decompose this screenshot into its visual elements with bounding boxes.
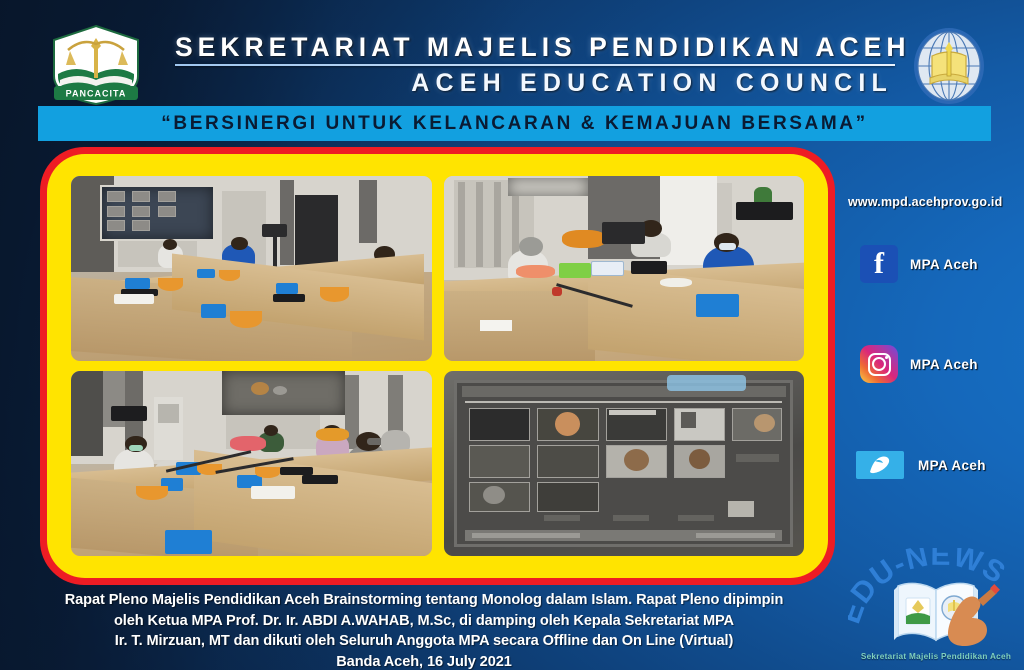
social-twitter[interactable]: MPA Aceh <box>856 451 1024 479</box>
facebook-handle: MPA Aceh <box>910 257 978 272</box>
instagram-glyph <box>868 353 891 376</box>
twitter-bird-glyph <box>867 455 893 475</box>
caption: Rapat Pleno Majelis Pendidikan Aceh Brai… <box>0 590 848 670</box>
page-title: SEKRETARIAT MAJELIS PENDIDIKAN ACEH ACEH… <box>175 32 895 98</box>
header: PANCACITA SEKRETARIAT MAJELIS PENDIDIKAN… <box>0 0 1024 105</box>
social-instagram[interactable]: MPA Aceh <box>860 345 1024 383</box>
title-line-primary: SEKRETARIAT MAJELIS PENDIDIKAN ACEH <box>175 32 895 63</box>
title-line-secondary: ACEH EDUCATION COUNCIL <box>175 68 895 98</box>
title-divider <box>175 64 895 66</box>
pancacita-label: PANCACITA <box>66 89 127 99</box>
pancacita-emblem: PANCACITA <box>48 24 144 106</box>
caption-line-4: Banda Aceh, 16 July 2021 <box>0 652 848 670</box>
social-facebook[interactable]: f MPA Aceh <box>860 245 1024 283</box>
instagram-handle: MPA Aceh <box>910 357 978 372</box>
slogan-banner: “BERSINERGI UNTUK KELANCARAN & KEMAJUAN … <box>38 106 991 141</box>
website-url[interactable]: www.mpd.acehprov.go.id <box>848 195 1024 209</box>
slogan-text: “BERSINERGI UNTUK KELANCARAN & KEMAJUAN … <box>161 113 867 135</box>
photo-3 <box>71 371 432 556</box>
caption-line-3: Ir. T. Mirzuan, MT dan dikuti oleh Selur… <box>0 631 848 652</box>
facebook-glyph: f <box>874 249 884 279</box>
photo-2 <box>444 176 805 361</box>
photo-4 <box>444 371 805 556</box>
photo-collage-inner <box>47 154 828 578</box>
sidebar-social: www.mpd.acehprov.go.id f MPA Aceh MPA Ac… <box>842 195 1024 479</box>
aceh-education-council-globe-emblem <box>910 26 988 106</box>
instagram-icon[interactable] <box>860 345 898 383</box>
caption-line-1: Rapat Pleno Majelis Pendidikan Aceh Brai… <box>0 590 848 611</box>
edunews-logo: EDU-NEWS Sekretariat Majelis Pendidikan … <box>848 548 1024 670</box>
caption-line-2: oleh Ketua MPA Prof. Dr. Ir. ABDI A.WAHA… <box>0 611 848 632</box>
twitter-handle: MPA Aceh <box>918 458 986 473</box>
photo-collage-frame <box>40 147 835 585</box>
photo-1 <box>71 176 432 361</box>
twitter-icon[interactable] <box>856 451 904 479</box>
edunews-subtitle: Sekretariat Majelis Pendidikan Aceh <box>848 652 1024 661</box>
facebook-icon[interactable]: f <box>860 245 898 283</box>
